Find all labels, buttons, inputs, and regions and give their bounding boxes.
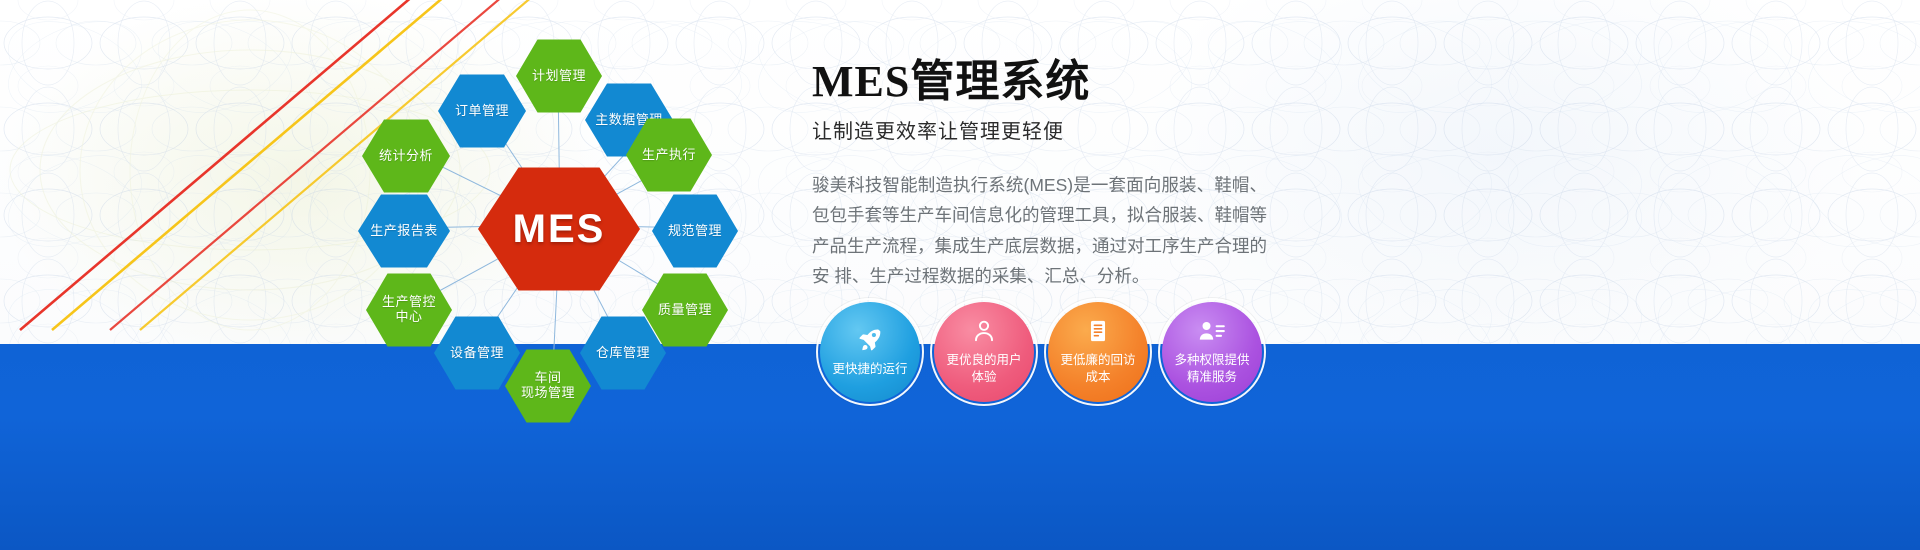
banner-stage: 计划管理 主数据管理 生产执行 规范管理 质量管理 仓库管理 车间 现场管理 设… (0, 0, 1920, 550)
hex-label: 设备管理 (450, 346, 504, 361)
badge-ring (930, 298, 1038, 406)
hex-label: 生产报告表 (370, 224, 438, 239)
feature-badge-permission-service[interactable]: 多种权限提供精准服务 (1162, 302, 1262, 402)
hex-label: 统计分析 (379, 149, 433, 164)
banner-content: MES管理系统 让制造更效率让管理更轻便 骏美科技智能制造执行系统(MES)是一… (812, 58, 1512, 291)
feature-badge-low-revisit-cost[interactable]: 更低廉的回访成本 (1048, 302, 1148, 402)
badge-ring (1044, 298, 1152, 406)
hex-label: 生产执行 (642, 148, 696, 163)
hex-label: 生产管控 中心 (382, 295, 436, 325)
feature-badge-fast-operation[interactable]: 更快捷的运行 (820, 302, 920, 402)
hex-label: 计划管理 (532, 69, 586, 84)
mes-hexagon-diagram: 计划管理 主数据管理 生产执行 规范管理 质量管理 仓库管理 车间 现场管理 设… (330, 10, 800, 430)
hex-label: 仓库管理 (596, 346, 650, 361)
feature-badge-list: 更快捷的运行 更优良的用户体验 (820, 302, 1262, 402)
description-paragraph: 骏美科技智能制造执行系统(MES)是一套面向服装、鞋帽、包包手套等生产车间信息化… (812, 170, 1267, 290)
feature-badge-user-experience[interactable]: 更优良的用户体验 (934, 302, 1034, 402)
page-title: MES管理系统 (812, 58, 1512, 106)
hex-core-label: MES (513, 206, 606, 252)
badge-ring (816, 298, 924, 406)
hex-label: 订单管理 (455, 104, 509, 119)
hex-label: 规范管理 (668, 224, 722, 239)
hex-label: 车间 现场管理 (521, 371, 575, 401)
badge-ring (1158, 298, 1266, 406)
hex-label: 质量管理 (658, 303, 712, 318)
page-subtitle: 让制造更效率让管理更轻便 (812, 115, 1512, 144)
